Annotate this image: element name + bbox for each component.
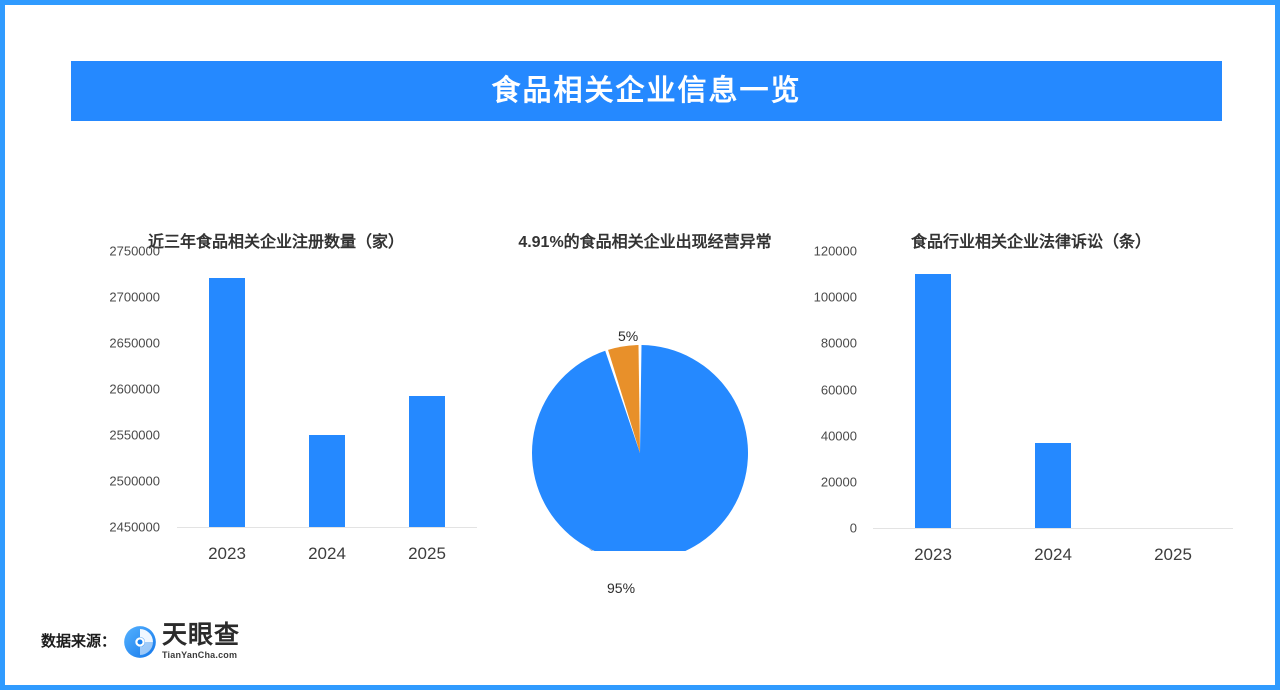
x-axis-line-lawsuits [873,528,1233,529]
x-axis-line-registrations [177,527,477,528]
y-tick-label: 100000 [814,291,857,304]
y-tick-label: 120000 [814,245,857,258]
footer-source: 数据来源： 天眼查 TianYanCha.com [41,623,240,660]
x-tick-label-2023: 2023 [208,545,246,562]
header-banner: 食品相关企业信息一览 [71,61,1222,121]
chart-panel-registrations: 近三年食品相关企业注册数量（家） 27500002700000265000026… [45,205,485,585]
source-label: 数据来源： [41,634,116,649]
x-tick-label-2024: 2024 [308,545,346,562]
chart-panel-abnormal: 4.91%的食品相关企业出现经营异常 5% 95% [485,205,805,585]
logo-text-block: 天眼查 TianYanCha.com [162,623,240,660]
y-tick-label: 0 [850,522,857,535]
y-tick-label: 2700000 [109,291,160,304]
x-tick-label-2024: 2024 [1034,546,1072,563]
bar-2024 [1035,443,1071,528]
y-tick-label: 2500000 [109,475,160,488]
y-tick-label: 2600000 [109,383,160,396]
logo-name-cn: 天眼查 [162,623,240,648]
x-tick-label-2025: 2025 [408,545,446,562]
chart-panel-lawsuits: 食品行业相关企业法律诉讼（条） 120000100000800006000040… [805,205,1245,585]
pie-slice-label-orange: 5% [618,329,638,343]
plot-area-registrations [177,251,477,527]
plot-area-lawsuits [873,251,1233,528]
y-tick-label: 60000 [821,383,857,396]
y-tick-label: 20000 [821,475,857,488]
bar-2023 [915,274,951,528]
bar-2025 [409,396,445,527]
bar-2023 [209,278,245,527]
bar-chart-registrations: 2750000270000026500002600000255000025000… [45,251,485,541]
y-tick-label: 2550000 [109,429,160,442]
y-tick-label: 40000 [821,429,857,442]
pie-chart-abnormal: 5% 95% [485,251,805,581]
x-tick-label-2025: 2025 [1154,546,1192,563]
x-tick-label-2023: 2023 [914,546,952,563]
pie-svg [485,251,805,551]
pie-slice-label-blue: 95% [607,581,635,595]
chart-title-lawsuits: 食品行业相关企业法律诉讼（条） [805,205,1245,251]
chart-title-abnormal: 4.91%的食品相关企业出现经营异常 [485,205,805,251]
pie-slice-95pct [532,345,748,551]
logo-name-en: TianYanCha.com [162,651,240,660]
y-tick-label: 80000 [821,337,857,350]
y-tick-label: 2450000 [109,521,160,534]
bar-2024 [309,435,345,527]
page-title: 食品相关企业信息一览 [491,77,801,106]
y-tick-label: 2650000 [109,337,160,350]
y-tick-label: 2750000 [109,245,160,258]
bar-chart-lawsuits: 120000100000800006000040000200000 202320… [805,251,1245,541]
tianyancha-aperture-icon [122,624,158,660]
infographic-page: 食品相关企业信息一览 近三年食品相关企业注册数量（家） 275000027000… [0,0,1280,690]
tianyancha-logo[interactable]: 天眼查 TianYanCha.com [122,623,240,660]
